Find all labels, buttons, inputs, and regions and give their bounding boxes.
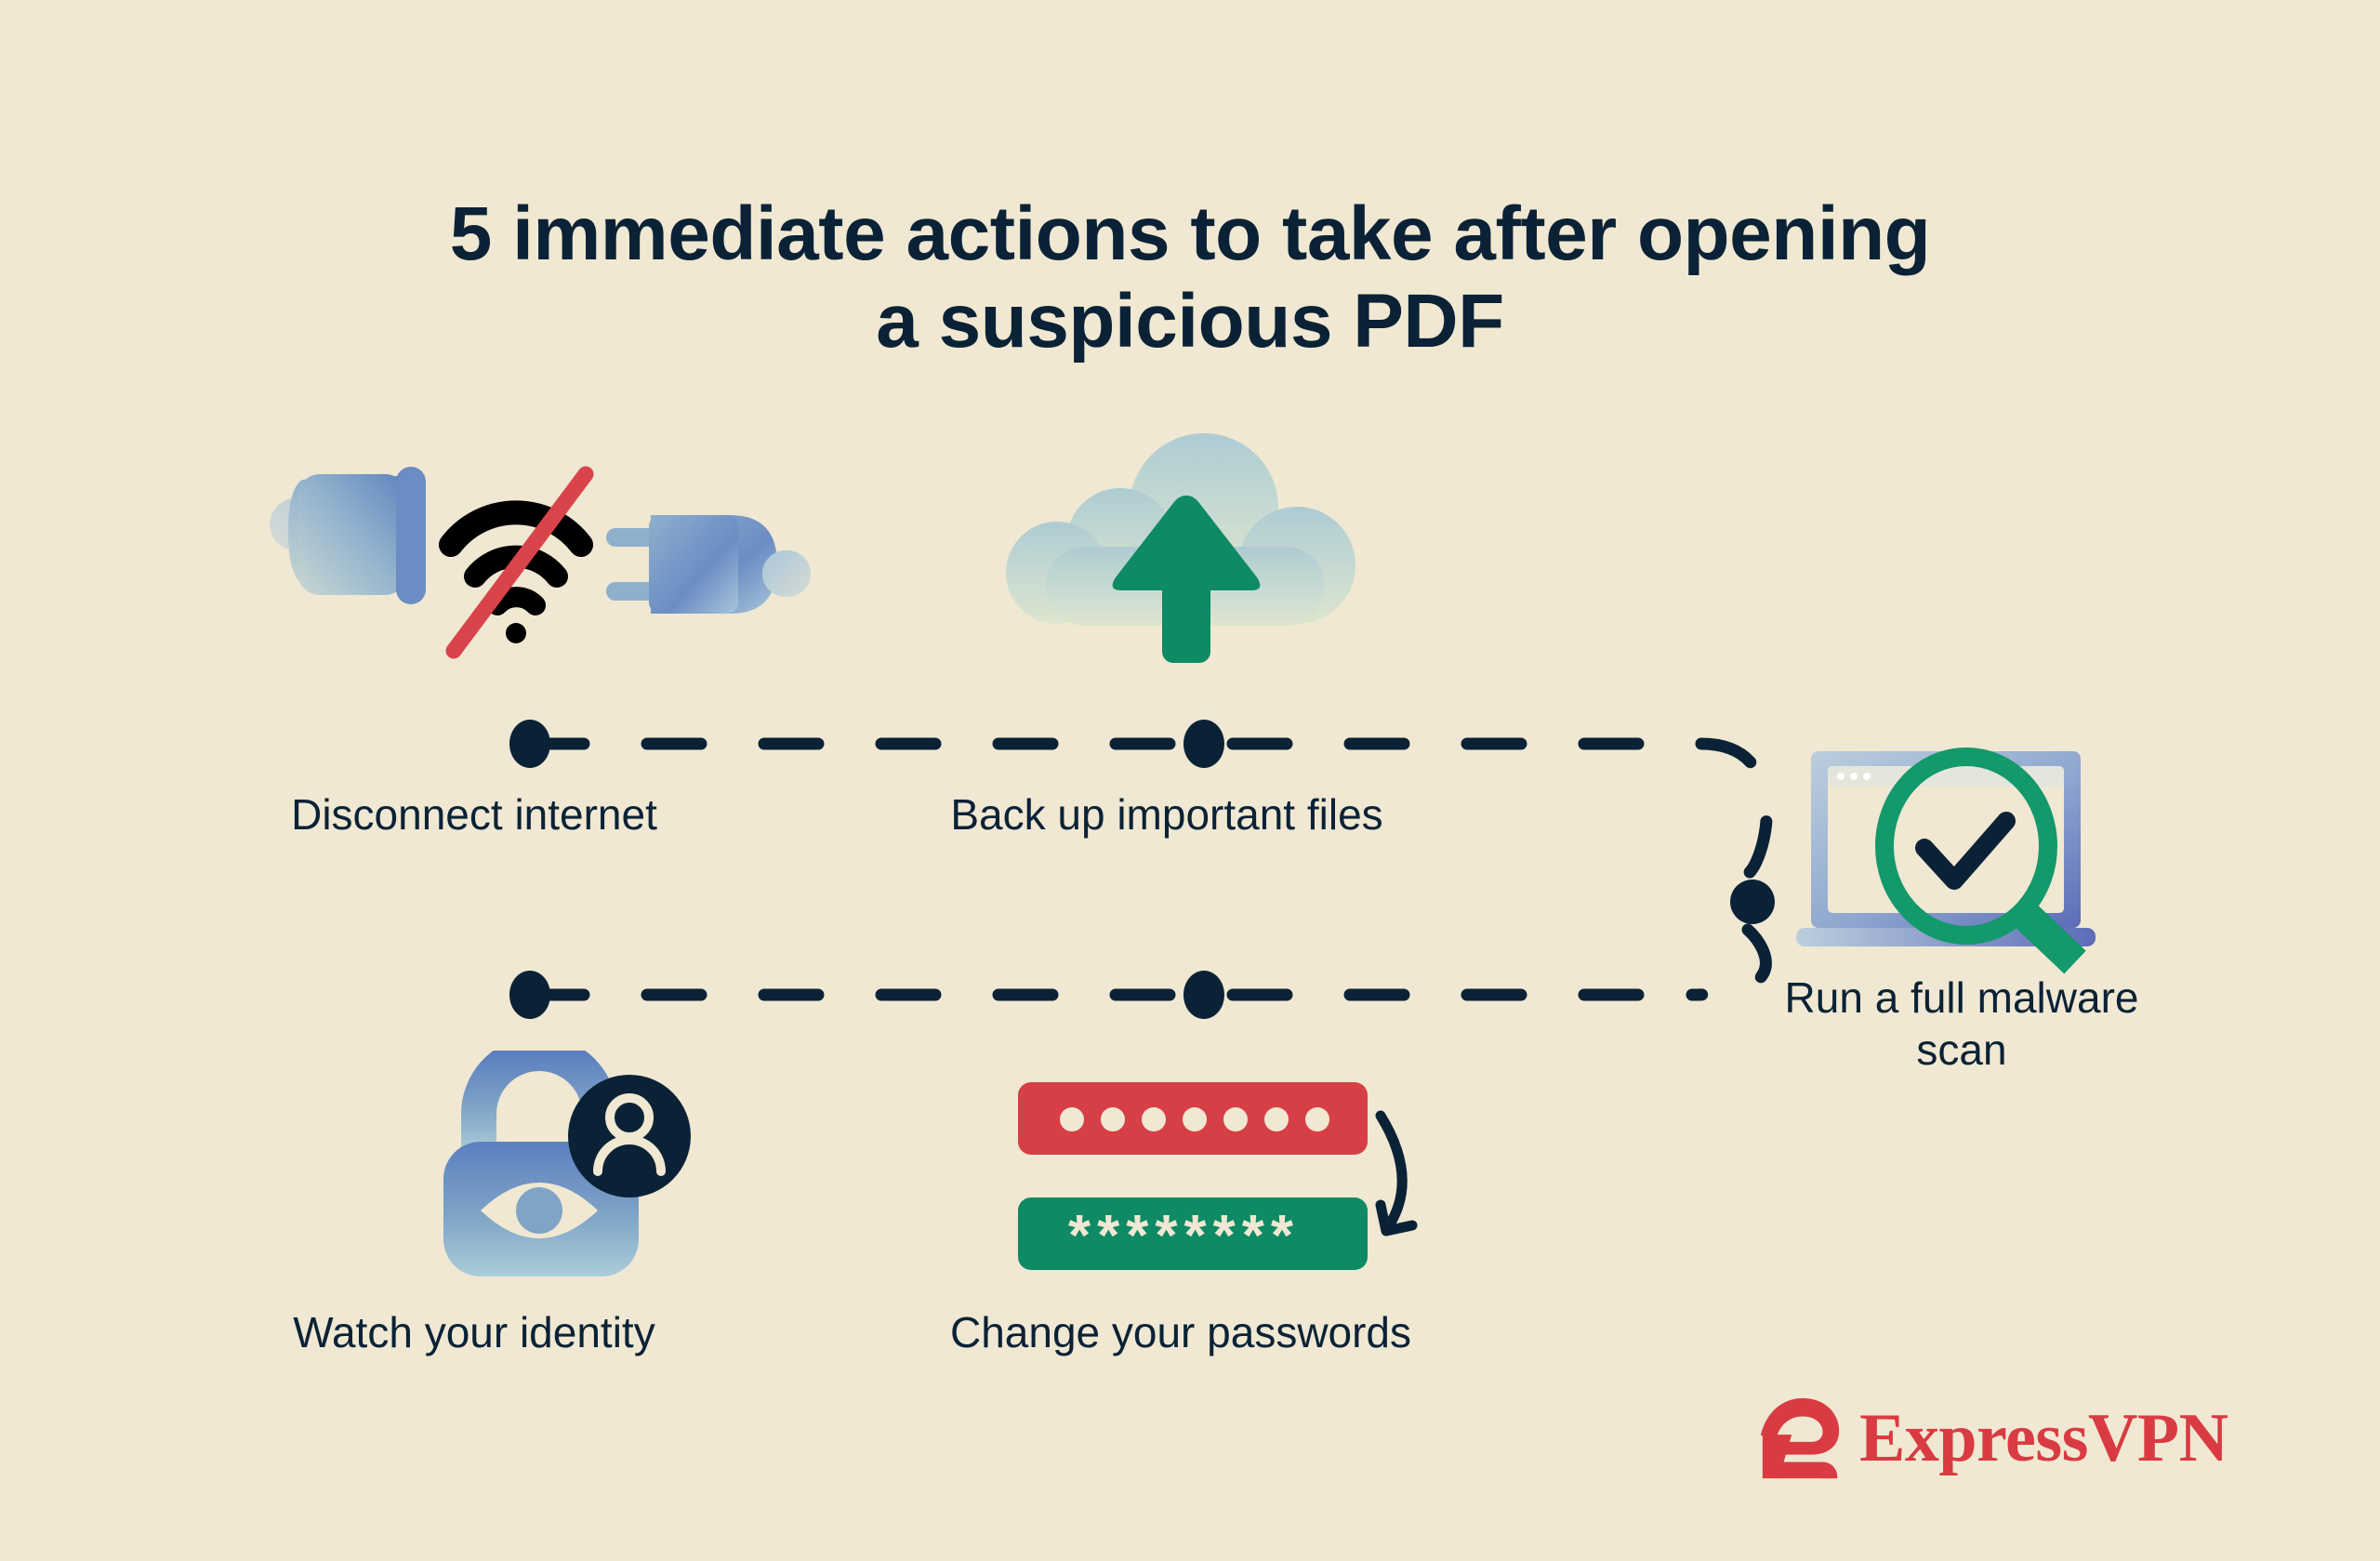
- step-label-malware-scan-line-2: scan: [1720, 1024, 2203, 1076]
- padlock-eye-person-icon: [423, 1051, 702, 1278]
- step-label-malware-scan: Run a full malware scan: [1720, 972, 2203, 1076]
- password-change-icon: ********: [1018, 1078, 1418, 1278]
- step-label-change-passwords: Change your passwords: [892, 1306, 1469, 1358]
- step-label-watch-identity: Watch your identity: [167, 1306, 781, 1358]
- cloud-upload-icon: [990, 426, 1381, 663]
- expressvpn-brand[interactable]: ExpressVPN: [1755, 1393, 2228, 1484]
- expressvpn-logo-icon: [1755, 1393, 1846, 1484]
- unplugged-wifi-icon: [260, 435, 818, 668]
- laptop-magnifier-check-icon: [1794, 744, 2129, 986]
- step-label-disconnect-internet: Disconnect internet: [167, 788, 781, 840]
- step-label-back-up-files: Back up important files: [892, 788, 1441, 840]
- page-title-line-2: a suspicious PDF: [0, 278, 2380, 365]
- page-title: 5 immediate actions to take after openin…: [0, 191, 2380, 366]
- password-asterisks: ********: [1068, 1204, 1300, 1268]
- page-title-line-1: 5 immediate actions to take after openin…: [0, 191, 2380, 278]
- brand-name: ExpressVPN: [1859, 1404, 2228, 1473]
- infographic-canvas: 5 immediate actions to take after openin…: [0, 0, 2380, 1561]
- step-label-malware-scan-line-1: Run a full malware: [1720, 972, 2203, 1024]
